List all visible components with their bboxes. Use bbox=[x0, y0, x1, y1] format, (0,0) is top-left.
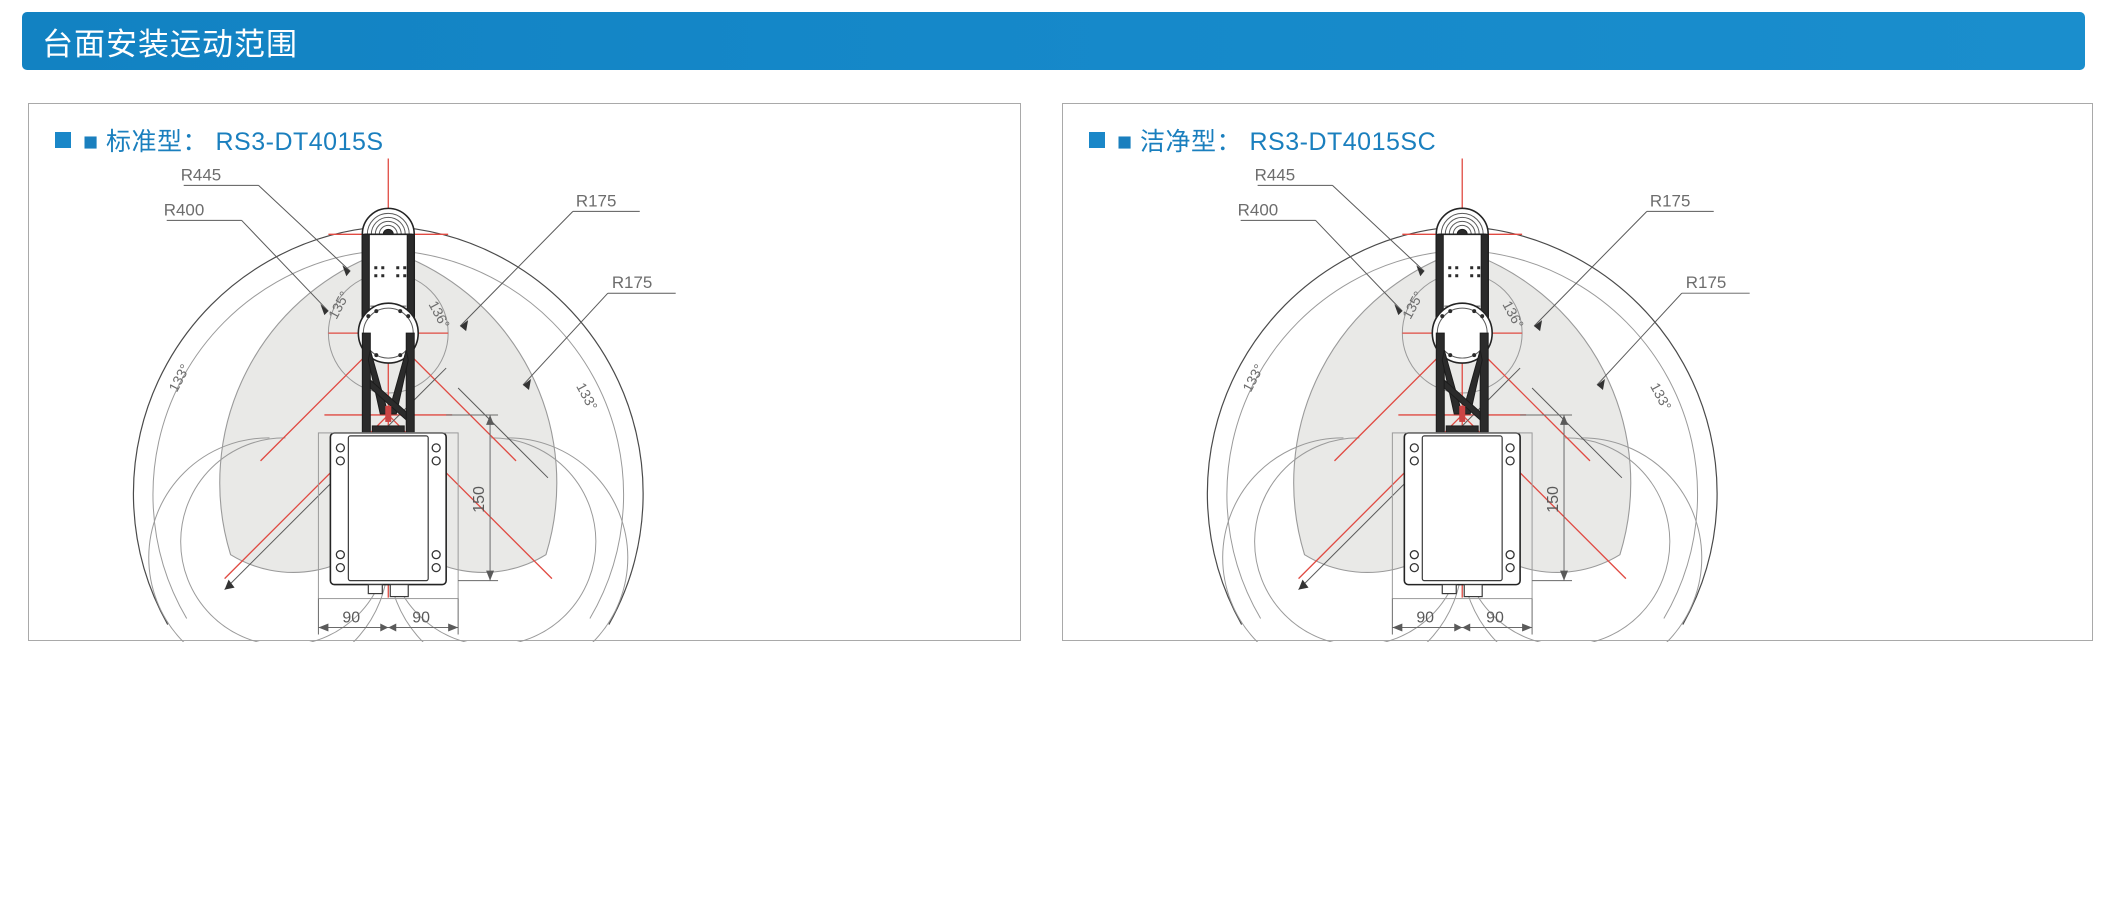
label-r445: R445 bbox=[181, 165, 222, 184]
drawing-cleanroom: R445 R400 R175 R175 133° 133° 135° 136° … bbox=[1063, 138, 2092, 642]
label-base-150: 150 bbox=[471, 486, 488, 513]
page-title: 台面安装运动范围 bbox=[22, 19, 298, 64]
robot-base-plate bbox=[330, 433, 446, 597]
label-r400: R400 bbox=[164, 200, 205, 219]
label-r175-upper: R175 bbox=[1650, 191, 1691, 210]
robot-base-plate bbox=[1404, 433, 1520, 597]
label-base-90-right: 90 bbox=[1486, 610, 1504, 627]
label-angle-133-right: 133° bbox=[573, 380, 601, 413]
label-r400: R400 bbox=[1238, 200, 1279, 219]
label-r175-upper: R175 bbox=[576, 191, 617, 210]
drawing-standard: R445 R400 R175 R175 133° 133° 135° 136° … bbox=[29, 138, 1020, 642]
label-r175-lower: R175 bbox=[1686, 273, 1727, 292]
label-angle-133-right: 133° bbox=[1647, 380, 1675, 413]
page-root: 台面安装运动范围 ■ 标准型： RS3-DT4015S bbox=[0, 0, 2121, 914]
label-base-90-right: 90 bbox=[412, 610, 430, 627]
label-base-90-left: 90 bbox=[1416, 610, 1434, 627]
page-header-banner: 台面安装运动范围 bbox=[22, 12, 2085, 70]
work-envelope-diagram-standard: R445 R400 R175 R175 133° 133° 135° 136° … bbox=[29, 138, 1020, 642]
label-base-150: 150 bbox=[1545, 486, 1562, 513]
panel-standard-type: ■ 标准型： RS3-DT4015S bbox=[28, 103, 1021, 641]
label-r445: R445 bbox=[1255, 165, 1296, 184]
label-base-90-left: 90 bbox=[342, 610, 360, 627]
panel-cleanroom-type: ■ 洁净型： RS3-DT4015SC bbox=[1062, 103, 2093, 641]
work-envelope-diagram-cleanroom: R445 R400 R175 R175 133° 133° 135° 136° … bbox=[1063, 138, 2092, 642]
label-r175-lower: R175 bbox=[612, 273, 653, 292]
